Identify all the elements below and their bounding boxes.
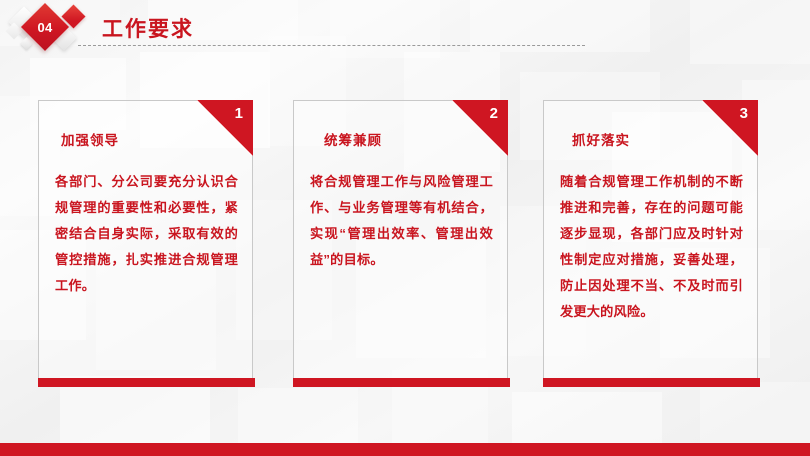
requirement-card[interactable]: 1 加强领导 各部门、分公司要充分认识合规管理的重要性和必要性，紧密结合自身实际… (38, 100, 253, 379)
section-number-diamond-cluster: 04 (8, 2, 92, 56)
card-body-text: 各部门、分公司要充分认识合规管理的重要性和必要性，紧密结合自身实际，采取有效的管… (55, 169, 238, 299)
card-bottom-bar (38, 378, 255, 387)
card-number-badge: 3 (740, 105, 748, 122)
background-block (700, 382, 810, 446)
card-title: 抓好落实 (572, 129, 630, 149)
card-body-text: 将合规管理工作与风险管理工作、与业务管理等有机结合，实现“管理出效率、管理出效益… (310, 169, 493, 273)
bottom-accent-band (0, 443, 810, 456)
slide-header: 04 工作要求 (0, 0, 810, 58)
background-block (512, 392, 662, 446)
card-bottom-bar (293, 378, 510, 387)
requirement-card[interactable]: 3 抓好落实 随着合规管理工作机制的不断推进和完善，存在的问题可能逐步显现，各部… (543, 100, 758, 379)
card-bottom-bar (543, 378, 760, 387)
section-number-label: 04 (28, 10, 62, 44)
header-divider (78, 45, 585, 46)
card-corner-ribbon (197, 100, 253, 156)
background-block (238, 388, 358, 446)
card-number-badge: 2 (490, 105, 498, 122)
card-title: 加强领导 (61, 129, 119, 149)
requirement-card[interactable]: 2 统筹兼顾 将合规管理工作与风险管理工作、与业务管理等有机结合，实现“管理出效… (293, 100, 508, 379)
card-corner-ribbon (452, 100, 508, 156)
card-corner-ribbon (702, 100, 758, 156)
card-title: 统筹兼顾 (324, 129, 382, 149)
card-body-text: 随着合规管理工作机制的不断推进和完善，存在的问题可能逐步显现，各部门应及时针对性… (560, 169, 743, 325)
slide-root: 04 工作要求 1 加强领导 各部门、分公司要充分认识合规管理的重要性和必要性，… (0, 0, 810, 456)
card-number-badge: 1 (235, 105, 243, 122)
page-title: 工作要求 (102, 13, 194, 43)
